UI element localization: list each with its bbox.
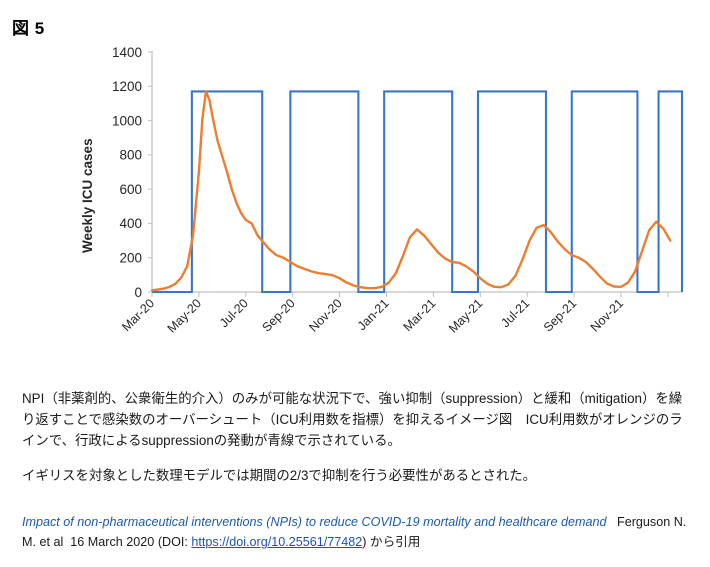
y-tick-1000: 1000: [112, 113, 142, 128]
y-tick-1200: 1200: [112, 79, 142, 94]
y-tick-800: 800: [119, 148, 142, 163]
x-tick-nov-20: Nov-20: [306, 296, 344, 334]
page-title: 図 5: [12, 14, 45, 39]
x-axis-tick-labels: Mar-20May-20Jul-20Sep-20Nov-20Jan-21Mar-…: [119, 296, 626, 335]
body-paragraph-2: イギリスを対象とした数理モデルでは期間の2/3で抑制を行う必要性があるとされた。: [22, 465, 694, 486]
x-tick-may-21: May-21: [446, 296, 485, 335]
citation-source-suffix: から引用: [370, 535, 420, 549]
y-axis-tick-labels: 0200400600800100012001400: [112, 45, 142, 300]
x-tick-may-20: May-20: [165, 296, 204, 335]
citation-doi-link[interactable]: https://doi.org/10.25561/77482: [191, 535, 362, 549]
y-tick-1400: 1400: [112, 45, 142, 60]
x-axis-line: [152, 292, 682, 297]
citation-title: Impact of non-pharmaceutical interventio…: [22, 515, 607, 529]
x-tick-mar-20: Mar-20: [119, 296, 157, 334]
icu-cases-line: [152, 91, 670, 290]
citation-date: 16 March 2020: [70, 535, 154, 549]
citation-block: Impact of non-pharmaceutical interventio…: [22, 512, 694, 552]
x-tick-mar-21: Mar-21: [401, 296, 439, 334]
icu-cases-chart: Weekly ICU cases 02004006008001000120014…: [0, 38, 710, 368]
y-axis-line: [148, 51, 152, 292]
chart-container: Weekly ICU cases 02004006008001000120014…: [0, 38, 710, 368]
x-tick-sep-20: Sep-20: [259, 296, 297, 334]
citation-doi-prefix: (DOI:: [158, 535, 192, 549]
body-text-block: NPI（非薬剤的、公衆衛生的介入）のみが可能な状況下で、強い抑制（suppres…: [22, 388, 694, 486]
y-tick-200: 200: [119, 251, 142, 266]
body-paragraph-1: NPI（非薬剤的、公衆衛生的介入）のみが可能な状況下で、強い抑制（suppres…: [22, 388, 694, 451]
y-tick-400: 400: [119, 216, 142, 231]
x-tick-jul-21: Jul-21: [498, 296, 532, 330]
y-tick-600: 600: [119, 182, 142, 197]
x-tick-jul-20: Jul-20: [217, 296, 251, 330]
y-axis-label: Weekly ICU cases: [80, 138, 95, 253]
y-tick-0: 0: [134, 285, 142, 300]
x-tick-jan-21: Jan-21: [355, 296, 392, 333]
x-tick-nov-21: Nov-21: [588, 296, 626, 334]
x-tick-sep-21: Sep-21: [541, 296, 579, 334]
